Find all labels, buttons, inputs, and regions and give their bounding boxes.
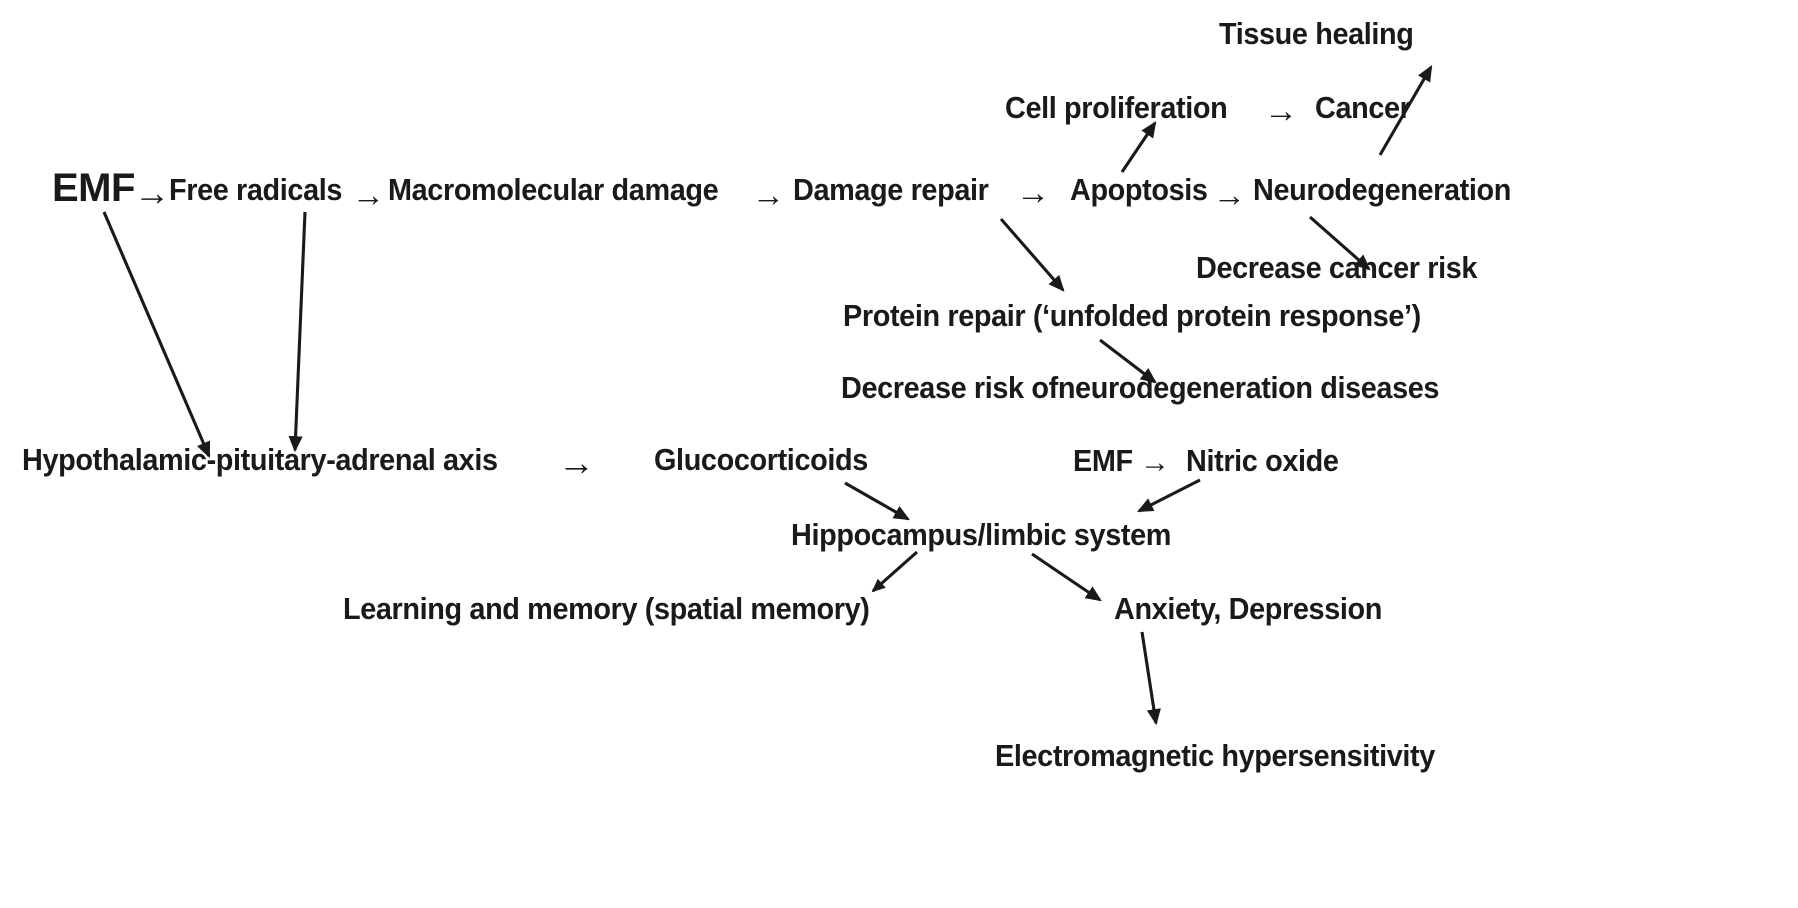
arrow-apoptosis-to-neurodegeneration-icon: → (1213, 176, 1246, 214)
node-macromolecular-damage: Macromolecular damage (388, 174, 718, 205)
node-learning-and-memory: Learning and memory (spatial memory) (343, 593, 870, 624)
arrow-cell-proliferation-to-cancer-icon: → (1264, 92, 1298, 131)
diagram-canvas: EMF → Free radicals → Macromolecular dam… (0, 0, 1798, 908)
edge-anxiety-depression-to-ehs (1142, 632, 1156, 723)
arrow-damage-repair-to-apoptosis-icon: → (1016, 174, 1050, 213)
edge-damage-repair-to-cell-proliferation (1122, 123, 1155, 172)
arrow-free-radicals-to-macromolecular-damage-icon: → (352, 176, 385, 214)
node-nitric-oxide: Nitric oxide (1186, 445, 1339, 476)
node-emf-top: EMF (52, 168, 135, 208)
node-anxiety-depression: Anxiety, Depression (1114, 593, 1382, 624)
arrow-hpa-axis-to-glucocorticoids-icon: → (558, 442, 595, 484)
node-decrease-cancer-risk: Decrease cancer risk (1196, 252, 1477, 283)
edge-hippocampus-to-anxiety-depression (1032, 554, 1100, 600)
node-tissue-healing: Tissue healing (1219, 18, 1414, 49)
edge-glucocorticoids-to-hippocampus (845, 483, 908, 519)
edge-emf-to-hpa-axis (104, 212, 209, 456)
arrow-emf-to-free-radicals-icon: → (134, 172, 170, 214)
edge-hippocampus-to-learning-memory (873, 552, 917, 591)
node-glucocorticoids: Glucocorticoids (654, 444, 868, 475)
arrow-emf-to-nitric-oxide-icon: → (1140, 446, 1170, 480)
edge-damage-repair-to-protein-repair (1001, 219, 1063, 290)
node-cancer: Cancer (1315, 92, 1411, 123)
edge-free-radicals-to-hpa-axis (295, 212, 305, 450)
node-apoptosis: Apoptosis (1070, 174, 1208, 205)
node-electromagnetic-hypersensitivity: Electromagnetic hypersensitivity (995, 740, 1435, 771)
node-protein-repair: Protein repair (‘unfolded protein respon… (843, 300, 1421, 331)
node-hpa-axis: Hypothalamic-pituitary-adrenal axis (22, 444, 498, 475)
edge-nitric-oxide-to-hippocampus (1139, 480, 1200, 511)
node-hippocampus-limbic-system: Hippocampus/limbic system (791, 519, 1171, 550)
node-decrease-neurodegeneration-risk: Decrease risk ofneurodegeneration diseas… (841, 372, 1439, 403)
node-neurodegeneration: Neurodegeneration (1253, 174, 1511, 205)
arrow-macromolecular-damage-to-damage-repair-icon: → (752, 176, 785, 214)
node-free-radicals: Free radicals (169, 174, 342, 205)
node-damage-repair: Damage repair (793, 174, 988, 205)
node-cell-proliferation: Cell proliferation (1005, 92, 1227, 123)
node-emf-bottom: EMF (1073, 445, 1133, 476)
